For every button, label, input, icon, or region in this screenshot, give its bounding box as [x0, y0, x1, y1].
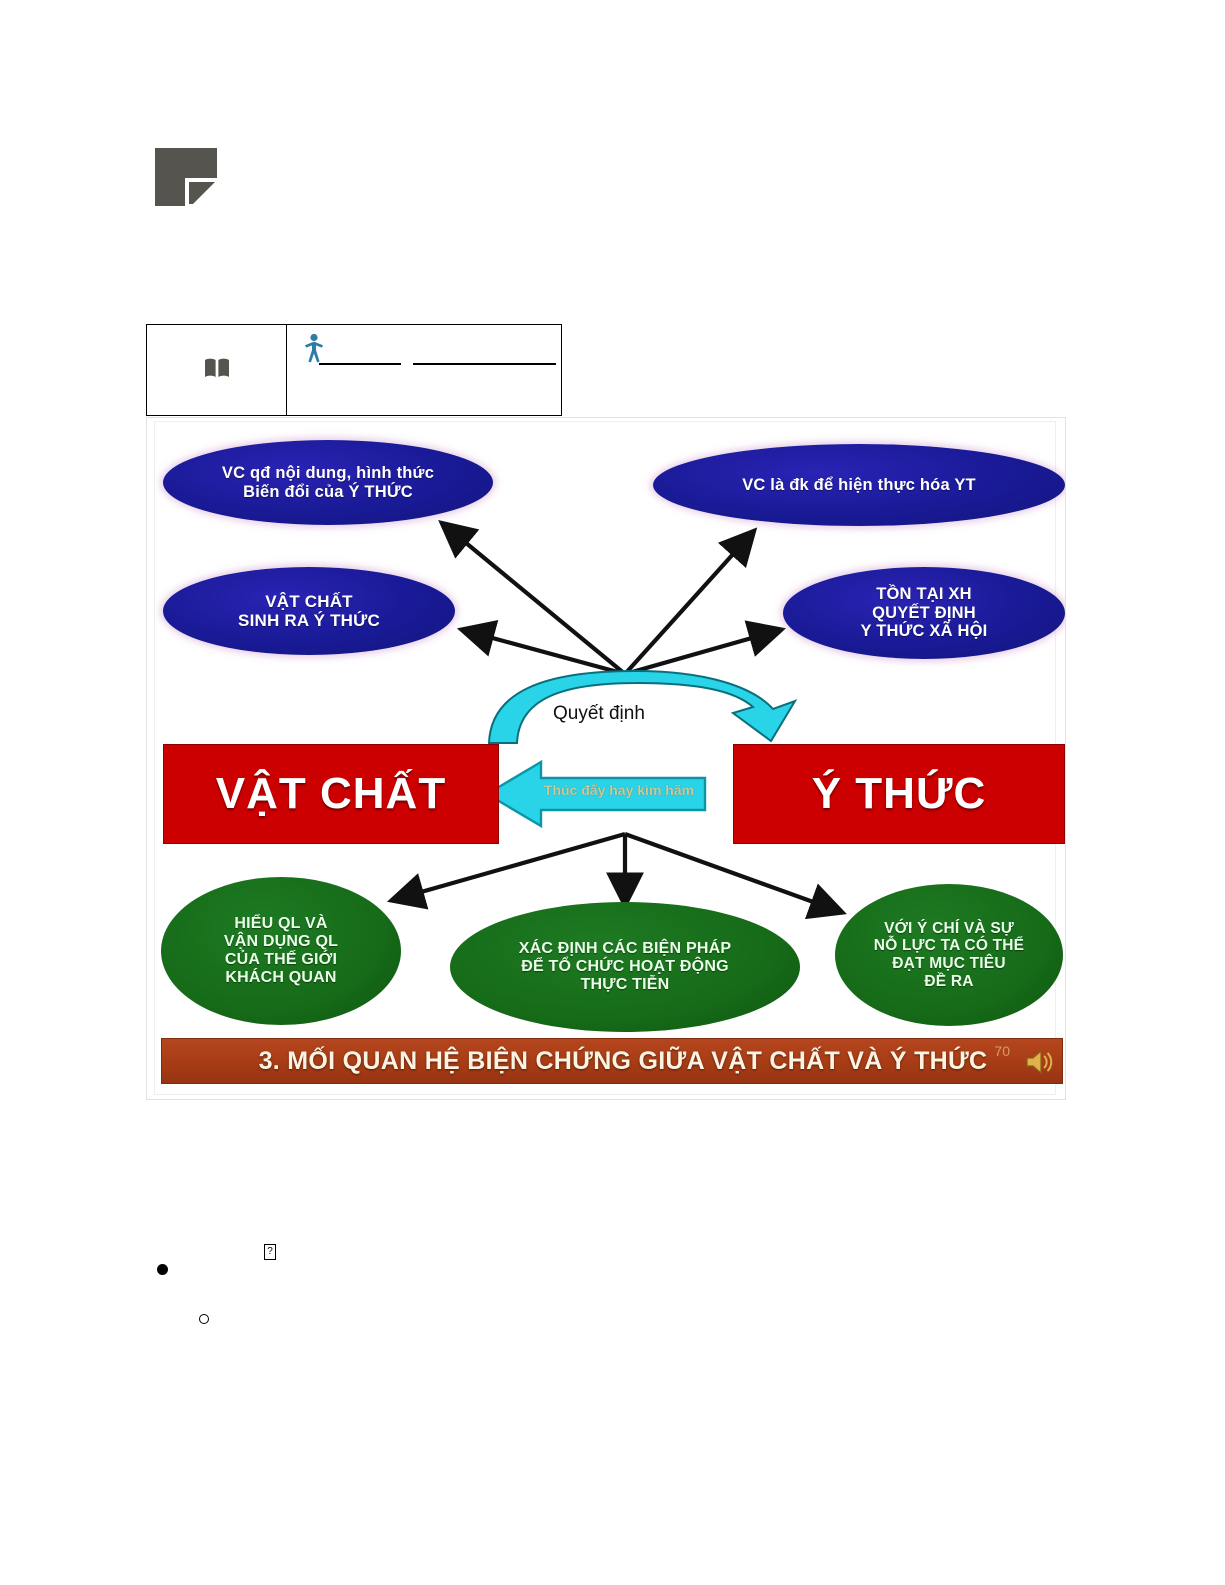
ellipse-label: VC qđ nội dung, hình thức Biến đổi của Ý…: [222, 464, 434, 502]
ellipse-vat-chat-sinh-ra-y-thuc: VẬT CHẤT SINH RA Ý THỨC: [163, 567, 455, 655]
list-bullet-hollow: [199, 1314, 209, 1324]
info-table: [146, 324, 562, 416]
table-cell-book: [147, 325, 287, 415]
ellipse-label: VC là đk để hiện thực hóa YT: [742, 476, 976, 495]
ellipse-xac-dinh-bien-phap: XÁC ĐỊNH CÁC BIỆN PHÁP ĐỂ TỔ CHỨC HOẠT Đ…: [450, 902, 800, 1032]
ellipse-label: XÁC ĐỊNH CÁC BIỆN PHÁP ĐỂ TỔ CHỨC HOẠT Đ…: [519, 940, 731, 995]
form-rule-long: [413, 363, 556, 365]
slide-footer-title: 3. MỐI QUAN HỆ BIỆN CHỨNG GIỮA VẬT CHẤT …: [162, 1047, 1062, 1076]
box-label: Ý THỨC: [812, 769, 987, 819]
box-label: VẬT CHẤT: [216, 769, 446, 819]
slide-footer-bar: 3. MỐI QUAN HỆ BIỆN CHỨNG GIỮA VẬT CHẤT …: [161, 1038, 1063, 1084]
box-y-thuc: Ý THỨC: [733, 744, 1065, 844]
box-vat-chat: VẬT CHẤT: [163, 744, 499, 844]
slide-canvas: VC qđ nội dung, hình thức Biến đổi của Ý…: [155, 422, 1055, 1094]
speaker-icon[interactable]: [1024, 1048, 1054, 1081]
ellipse-voi-y-chi: VỚI Ý CHÍ VÀ SỰ NỖ LỰC TA CÓ THỂ ĐẠT MỤC…: [835, 884, 1063, 1026]
form-rule-short: [319, 363, 401, 365]
list-bullet-filled: [157, 1264, 168, 1275]
ellipse-label: VỚI Ý CHÍ VÀ SỰ NỖ LỰC TA CÓ THỂ ĐẠT MỤC…: [874, 920, 1024, 991]
ellipse-vc-qd-noi-dung: VC qđ nội dung, hình thức Biến đổi của Ý…: [163, 440, 493, 525]
ellipse-label: TỒN TẠI XH QUYẾT ĐỊNH Y THỨC XÃ HỘI: [861, 585, 988, 641]
left-arrow-label: Thúc đẩy hay kìm hãm: [524, 782, 714, 798]
ellipse-label: HIỂU QL VÀ VẬN DỤNG QL CỦA THẾ GIỚI KHÁC…: [224, 915, 338, 988]
document-placeholder-icon: [155, 148, 217, 206]
slide-image: VC qđ nội dung, hình thức Biến đổi của Ý…: [146, 417, 1066, 1100]
missing-glyph-box: ?: [264, 1244, 276, 1260]
slide-page-number: 70: [994, 1043, 1010, 1059]
ellipse-vc-la-dk: VC là đk để hiện thực hóa YT: [653, 444, 1065, 526]
ellipse-ton-tai-xh: TỒN TẠI XH QUYẾT ĐỊNH Y THỨC XÃ HỘI: [783, 567, 1065, 659]
ellipse-hieu-ql: HIỂU QL VÀ VẬN DỤNG QL CỦA THẾ GIỚI KHÁC…: [161, 877, 401, 1025]
table-cell-content: [287, 325, 561, 415]
ellipse-label: VẬT CHẤT SINH RA Ý THỨC: [238, 592, 380, 631]
curved-arrow-label: Quyết định: [553, 703, 645, 725]
curved-arrow-quyet-dinh: [485, 665, 805, 745]
open-book-icon: [204, 357, 230, 384]
